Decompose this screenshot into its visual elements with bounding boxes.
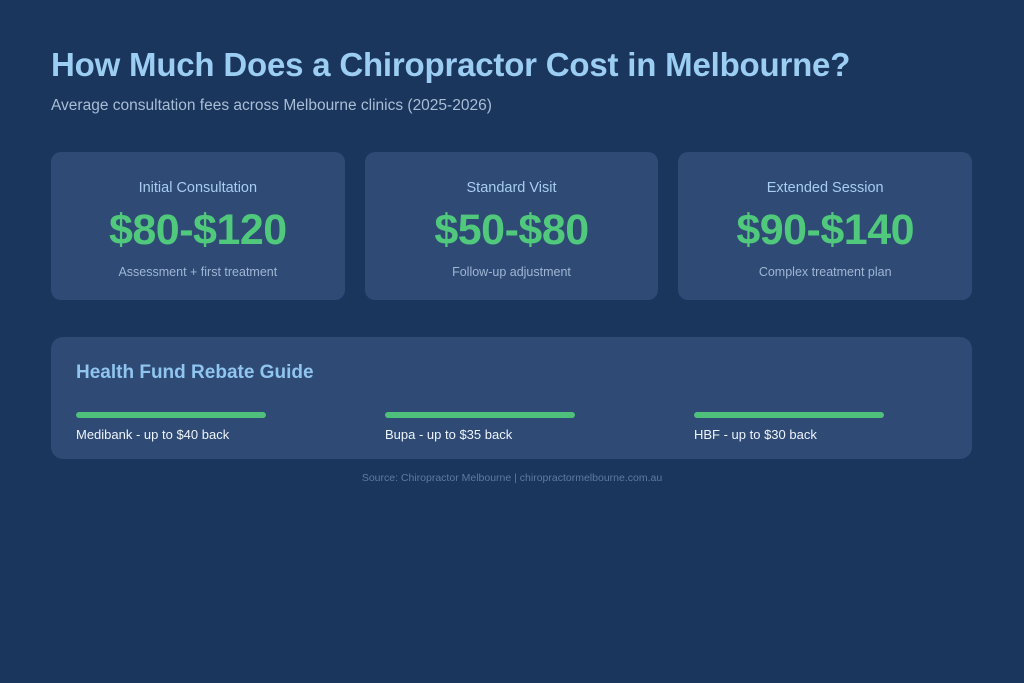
- page-subtitle: Average consultation fees across Melbour…: [51, 97, 981, 116]
- stat-card-value: $90-$140: [736, 206, 914, 255]
- stat-card-label: Initial Consultation: [139, 181, 258, 197]
- stat-card-caption: Assessment + first treatment: [118, 266, 277, 280]
- health-fund-rebate-panel: Health Fund Rebate Guide Medibank - up t…: [51, 337, 972, 459]
- source-attribution: Source: Chiropractor Melbourne | chiropr…: [0, 473, 1024, 485]
- stat-card-label: Extended Session: [767, 181, 884, 197]
- stat-card-caption: Follow-up adjustment: [452, 266, 571, 280]
- stat-card-label: Standard Visit: [467, 181, 557, 197]
- stat-card-standard-visit: Standard Visit $50-$80 Follow-up adjustm…: [365, 152, 659, 300]
- rebate-panel-heading: Health Fund Rebate Guide: [76, 363, 947, 384]
- rebate-item-label: Medibank - up to $40 back: [76, 428, 288, 443]
- stat-card-value: $50-$80: [434, 206, 588, 255]
- rebate-bar: [694, 412, 884, 418]
- stat-cards-row: Initial Consultation $80-$120 Assessment…: [51, 152, 972, 300]
- header: How Much Does a Chiropractor Cost in Mel…: [51, 46, 981, 116]
- stat-card-extended-session: Extended Session $90-$140 Complex treatm…: [678, 152, 972, 300]
- rebate-item-medibank: Medibank - up to $40 back: [76, 412, 288, 443]
- rebate-bar: [385, 412, 575, 418]
- rebate-item-label: Bupa - up to $35 back: [385, 428, 597, 443]
- page-title: How Much Does a Chiropractor Cost in Mel…: [51, 46, 981, 84]
- rebate-item-bupa: Bupa - up to $35 back: [385, 412, 597, 443]
- stat-card-value: $80-$120: [109, 206, 287, 255]
- rebate-item-label: HBF - up to $30 back: [694, 428, 906, 443]
- stat-card-caption: Complex treatment plan: [759, 266, 892, 280]
- infographic-canvas: How Much Does a Chiropractor Cost in Mel…: [0, 0, 1024, 683]
- rebate-item-hbf: HBF - up to $30 back: [694, 412, 906, 443]
- stat-card-initial-consultation: Initial Consultation $80-$120 Assessment…: [51, 152, 345, 300]
- rebate-items-row: Medibank - up to $40 back Bupa - up to $…: [76, 412, 947, 443]
- rebate-bar: [76, 412, 266, 418]
